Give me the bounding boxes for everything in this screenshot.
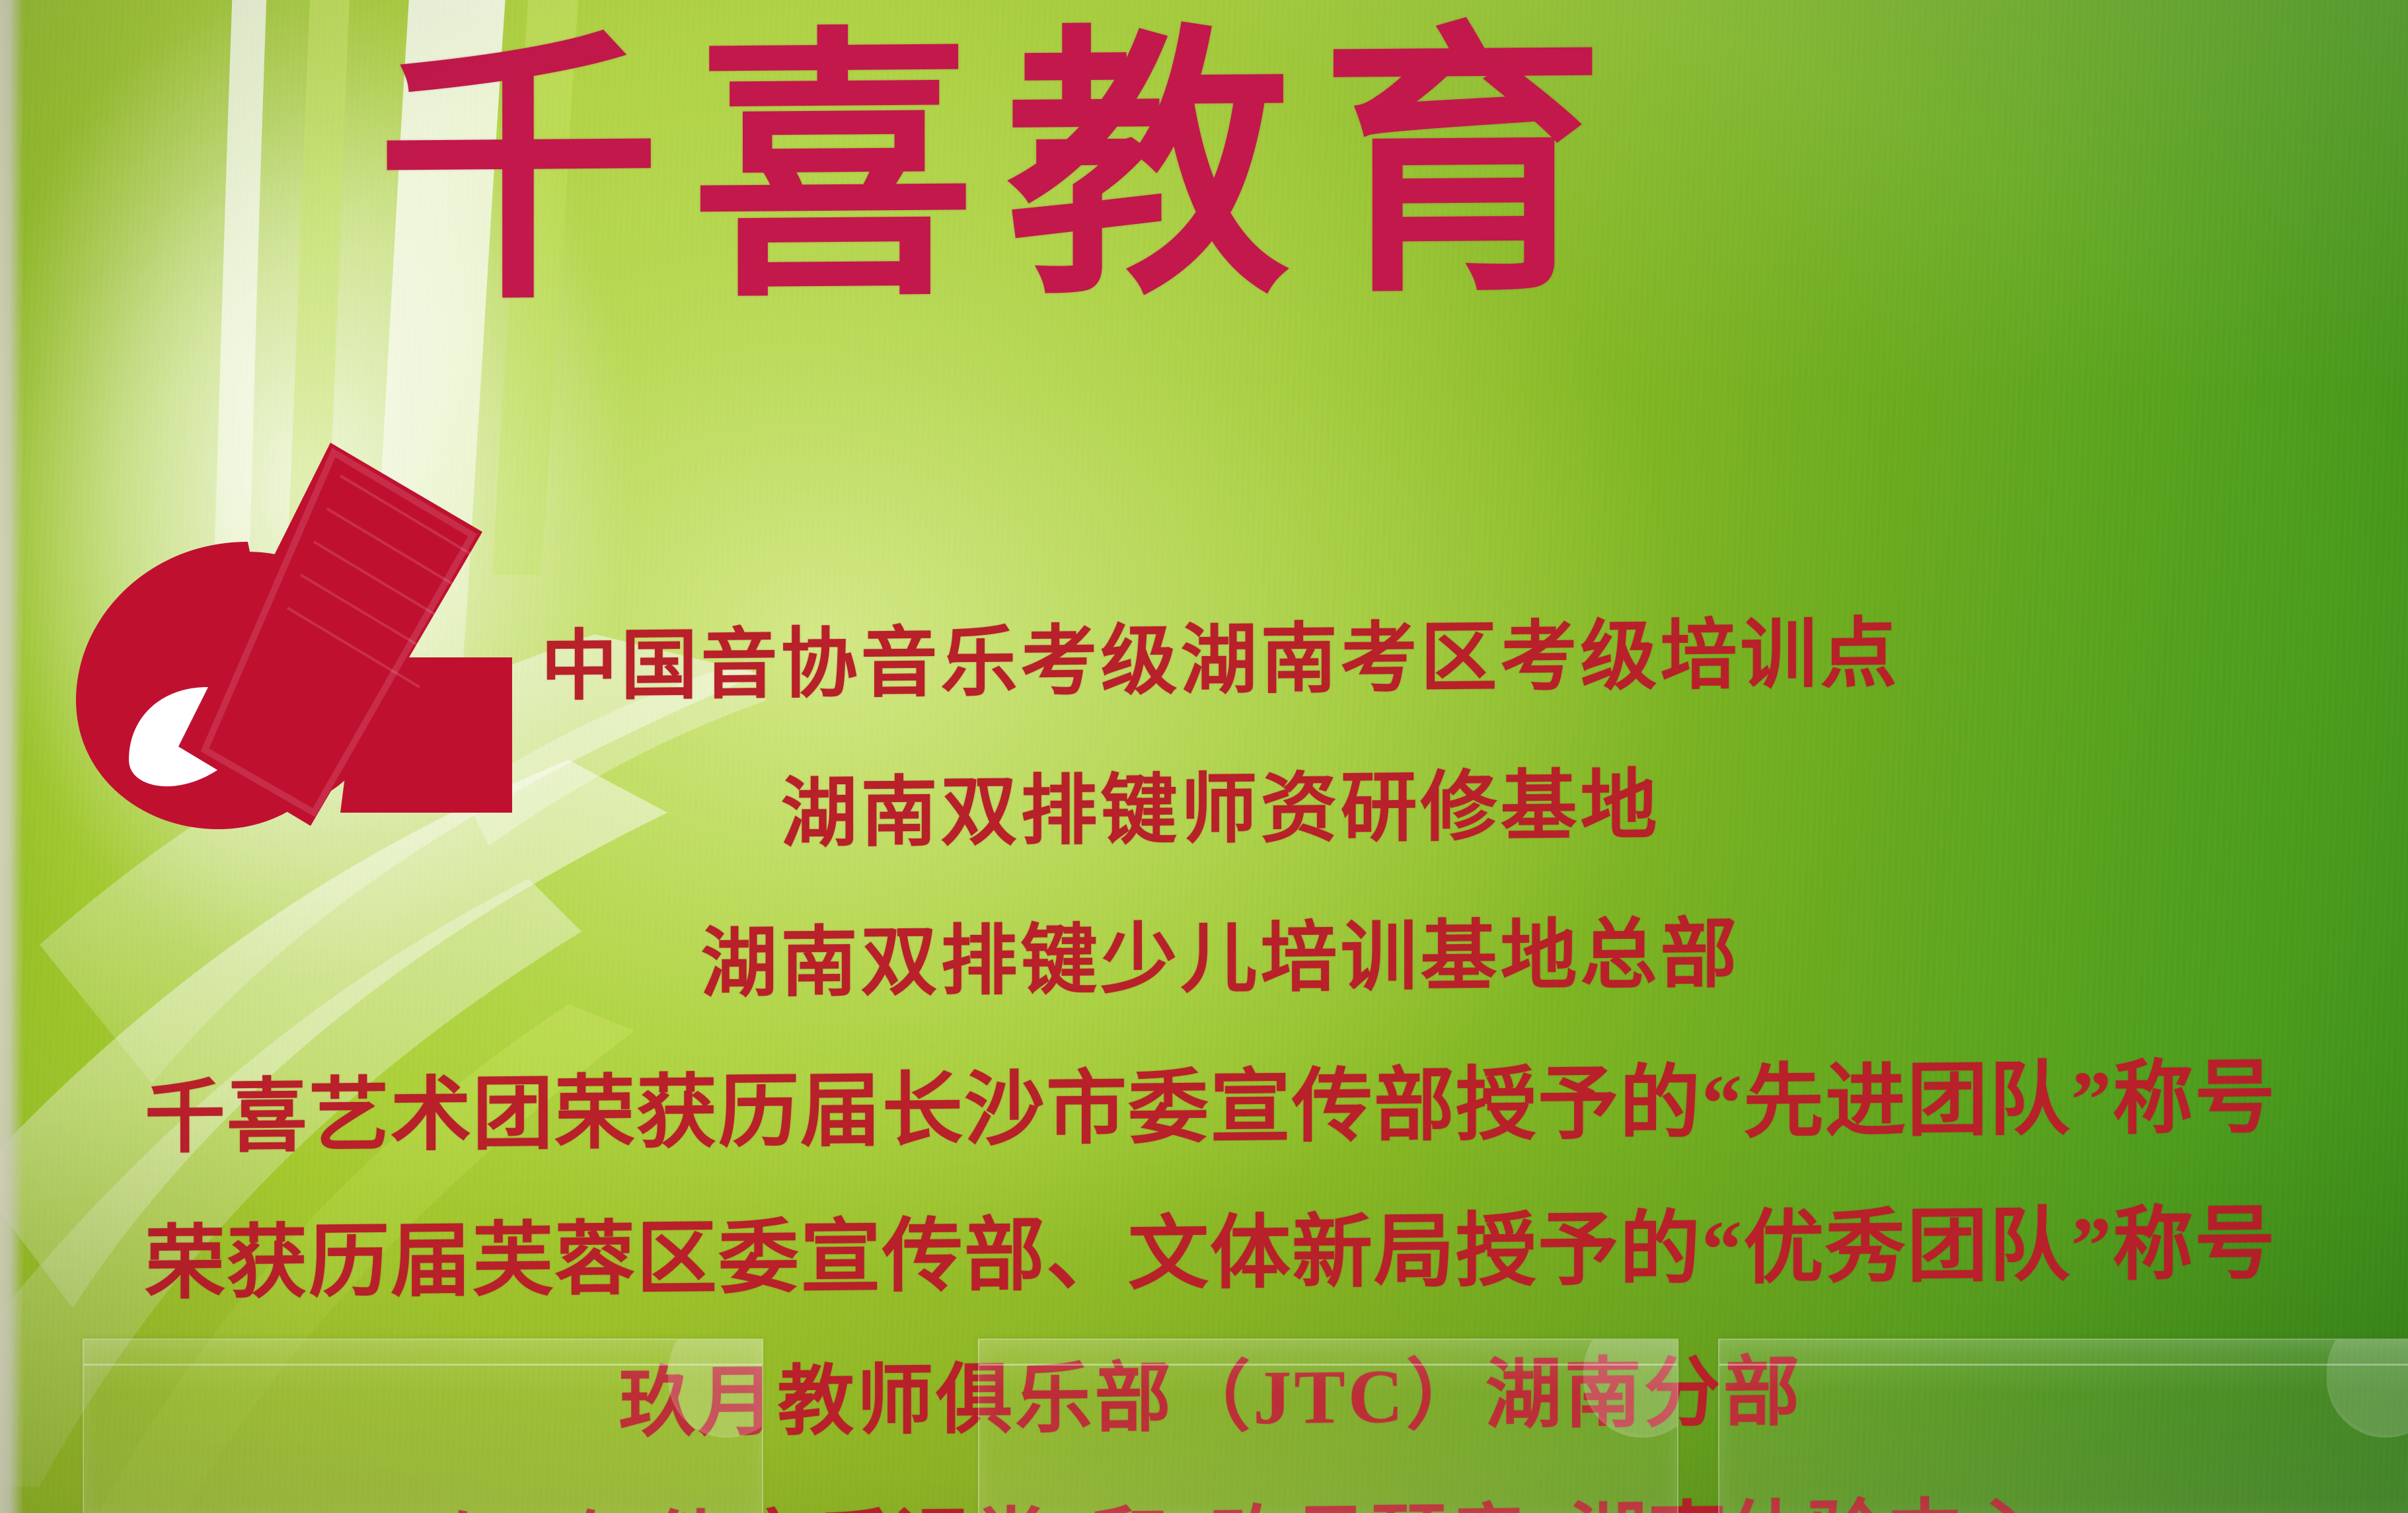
photo-left-edge [0,0,24,1513]
brochure-holder-center[interactable] [978,1339,1678,1513]
credential-line-1: 中国音协音乐考级湖南考区考级培训点 [33,587,2408,721]
brochure-holder-left[interactable] [83,1339,763,1513]
credential-line-3: 湖南双排键少儿培训基地总部 [33,885,2408,1019]
signboard-photo: 千喜教育 中国音协音乐考级湖南考区考级培训点 湖南双排键师资研修基地 湖南双排键… [0,0,2408,1513]
credential-line-4: 千喜艺术团荣获历届长沙市委宣传部授予的“先进团队”称号 [13,1031,2408,1171]
sign-title: 千喜教育 [377,21,2029,318]
brochure-holder-right[interactable] [1718,1339,2408,1513]
credential-line-5: 荣获历届芙蓉区委宣传部、文体新局授予的“优秀团队”称号 [13,1177,2408,1317]
brochure-holder-row [0,1315,2408,1513]
credential-line-2: 湖南双排键师资研修基地 [33,736,2408,870]
